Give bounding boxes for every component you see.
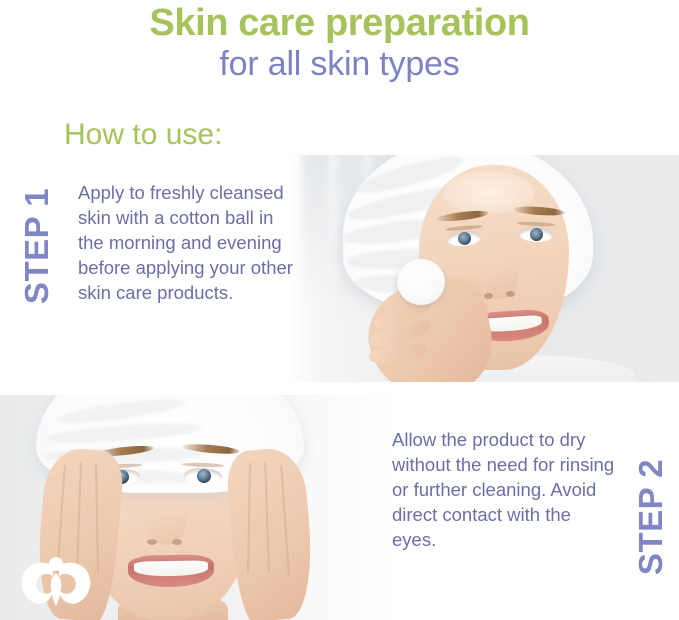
- header: Skin care preparation for all skin types: [0, 0, 679, 100]
- step-1-photo: [285, 155, 679, 382]
- how-to-use-heading: How to use:: [64, 118, 222, 152]
- nostril-left: [147, 539, 157, 545]
- nose: [144, 487, 188, 545]
- step-2-text: Allow the product to dry without the nee…: [392, 427, 620, 552]
- page-title: Skin care preparation: [0, 2, 679, 44]
- step-2-label: STEP 2: [632, 429, 670, 605]
- nostril-right: [172, 539, 182, 545]
- butterfly-leaf-logo-icon: [18, 552, 94, 614]
- iris-right: [197, 469, 211, 483]
- teeth: [134, 560, 208, 576]
- page-subtitle: for all skin types: [0, 44, 679, 84]
- nostril-right: [506, 291, 515, 297]
- step-1-text: Apply to freshly cleansed skin with a co…: [78, 180, 293, 305]
- backdrop-panel: [303, 155, 329, 295]
- iris-left: [457, 231, 471, 245]
- cotton-pad: [397, 259, 445, 305]
- step-1-label: STEP 1: [18, 158, 56, 334]
- iris-right: [530, 228, 544, 242]
- nostril-left: [484, 293, 493, 299]
- infographic-page: Skin care preparation for all skin types…: [0, 0, 679, 620]
